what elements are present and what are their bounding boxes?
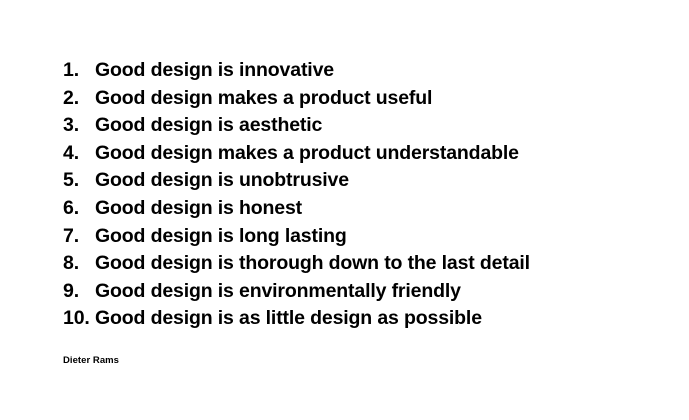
- list-item-number: 10.: [63, 305, 95, 333]
- list-item-number: 9.: [63, 278, 95, 306]
- list-item-text: Good design is honest: [95, 195, 302, 223]
- list-item: 3. Good design is aesthetic: [63, 112, 530, 140]
- slide-canvas: 1. Good design is innovative 2. Good des…: [0, 0, 689, 420]
- list-item-number: 2.: [63, 85, 95, 113]
- list-item: 9. Good design is environmentally friend…: [63, 278, 530, 306]
- list-item: 8. Good design is thorough down to the l…: [63, 250, 530, 278]
- list-item-number: 7.: [63, 223, 95, 251]
- list-item: 5. Good design is unobtrusive: [63, 167, 530, 195]
- list-item-text: Good design is aesthetic: [95, 112, 322, 140]
- list-item-number: 1.: [63, 57, 95, 85]
- list-item-text: Good design is innovative: [95, 57, 334, 85]
- list-item-text: Good design is unobtrusive: [95, 167, 349, 195]
- list-item-text: Good design makes a product understandab…: [95, 140, 519, 168]
- list-item: 1. Good design is innovative: [63, 57, 530, 85]
- list-item: 6. Good design is honest: [63, 195, 530, 223]
- list-item-text: Good design is as little design as possi…: [95, 305, 482, 333]
- principles-list: 1. Good design is innovative 2. Good des…: [63, 57, 530, 333]
- list-item: 10. Good design is as little design as p…: [63, 305, 530, 333]
- list-item-number: 5.: [63, 167, 95, 195]
- list-item-text: Good design is long lasting: [95, 223, 347, 251]
- list-item-number: 6.: [63, 195, 95, 223]
- list-item-text: Good design is environmentally friendly: [95, 278, 461, 306]
- list-item-text: Good design is thorough down to the last…: [95, 250, 530, 278]
- list-item: 4. Good design makes a product understan…: [63, 140, 530, 168]
- list-item-number: 4.: [63, 140, 95, 168]
- list-item-number: 8.: [63, 250, 95, 278]
- attribution: Dieter Rams: [63, 354, 119, 367]
- list-item: 2. Good design makes a product useful: [63, 85, 530, 113]
- list-item: 7. Good design is long lasting: [63, 223, 530, 251]
- list-item-text: Good design makes a product useful: [95, 85, 432, 113]
- list-item-number: 3.: [63, 112, 95, 140]
